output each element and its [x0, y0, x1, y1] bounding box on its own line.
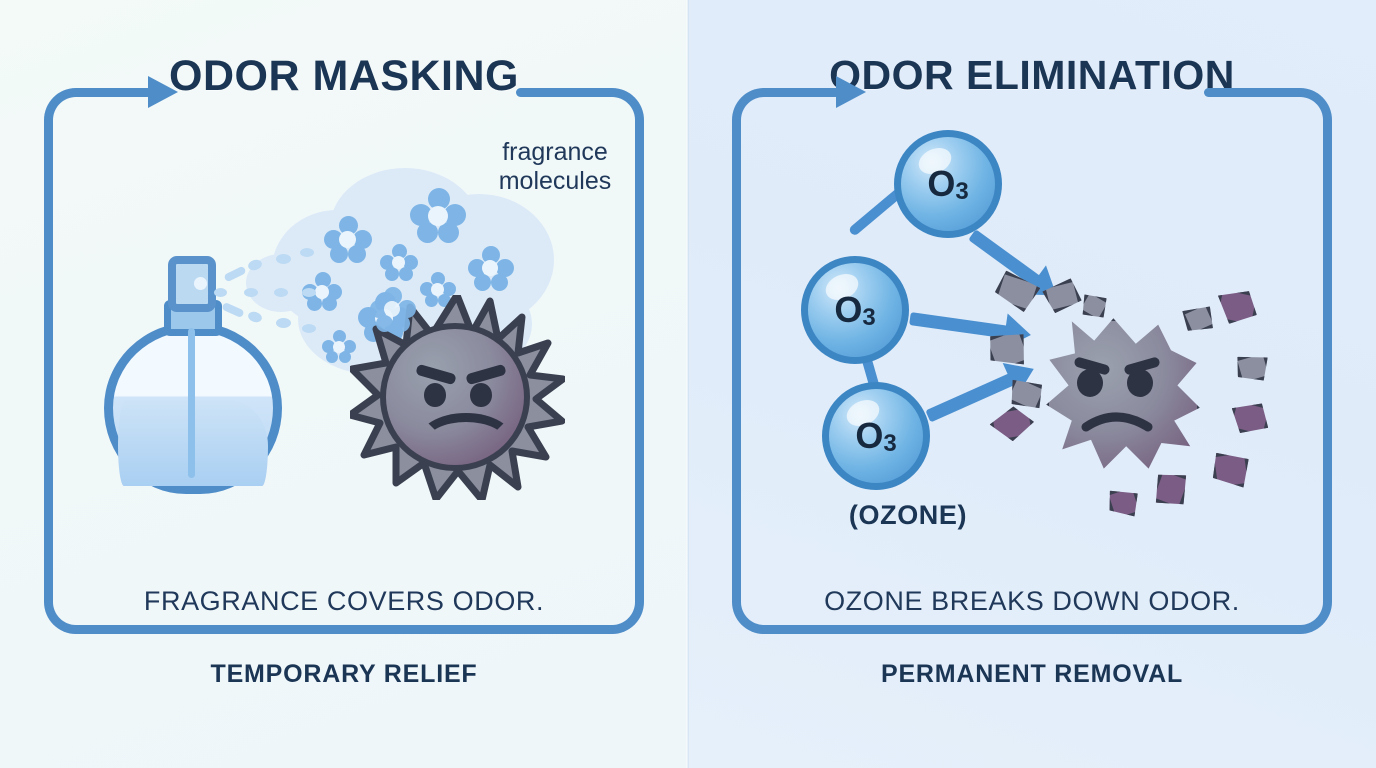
debris-shard	[1213, 285, 1262, 329]
flower-icon	[324, 216, 372, 264]
spray-particle	[300, 248, 314, 257]
ozone-molecule-icon: O3	[822, 382, 930, 490]
frame-edge-top-left-stub	[100, 88, 152, 97]
outside-caption-right: PERMANENT REMOVAL	[732, 660, 1332, 689]
spray-particle	[274, 288, 288, 297]
spray-particle	[247, 258, 263, 272]
spray-particle	[276, 318, 291, 328]
flower-icon	[370, 287, 416, 333]
spray-particle	[302, 288, 316, 297]
debris-shard	[983, 325, 1034, 374]
ozone-caption: (OZONE)	[808, 500, 1008, 531]
bottle-dip-tube	[188, 328, 195, 478]
artwork-odor-elimination: O3 O3 O3 (OZONE)	[688, 110, 1376, 580]
spray-particle	[244, 288, 258, 297]
molecule-label: O3	[829, 389, 923, 483]
flower-icon	[410, 188, 466, 244]
bottle-cap-detail	[194, 277, 207, 290]
spray-particle	[221, 302, 244, 318]
molecule-label: O3	[808, 263, 902, 357]
frame-edge-bottom	[72, 625, 616, 634]
panel-odor-masking: ODOR MASKING	[0, 0, 688, 768]
fragrance-molecules-annotation: fragrance molecules	[470, 138, 640, 196]
flower-icon	[380, 244, 418, 282]
germ-eyebrow-left	[415, 364, 456, 386]
spray-particle	[276, 254, 291, 264]
card-caption-left: FRAGRANCE COVERS ODOR.	[44, 586, 644, 617]
germ-face	[380, 323, 530, 471]
frame-edge-bottom	[760, 625, 1304, 634]
molecule-label: O3	[901, 137, 995, 231]
card-caption-right: OZONE BREAKS DOWN ODOR.	[732, 586, 1332, 617]
panel-odor-elimination: ODOR ELIMINATION O3	[688, 0, 1376, 768]
outside-caption-left: TEMPORARY RELIEF	[44, 660, 644, 689]
ozone-molecule-icon: O3	[801, 256, 909, 364]
frame-edge-top-right-stub	[1204, 88, 1276, 97]
title-arrow-icon	[148, 76, 178, 108]
germ-eye-left	[424, 383, 446, 407]
debris-shard	[1233, 349, 1274, 387]
debris-shard	[1226, 397, 1273, 440]
angry-odor-germ-icon	[350, 295, 565, 500]
annotation-line-2: molecules	[470, 167, 640, 196]
germ-frown-mouth	[418, 413, 514, 469]
germ-eye-right	[470, 383, 492, 407]
germ-face-overlay	[1028, 303, 1218, 493]
spray-particle	[247, 310, 263, 324]
perfume-bottle-icon	[96, 250, 311, 500]
title-arrow-icon	[836, 76, 866, 108]
bottle-spray-cap	[168, 256, 216, 312]
ozone-molecule-icon: O3	[894, 130, 1002, 238]
spray-particle	[223, 266, 246, 283]
spray-particle	[214, 288, 227, 297]
annotation-line-1: fragrance	[470, 138, 640, 167]
frame-edge-top-right-stub	[516, 88, 588, 97]
spray-particle	[302, 324, 316, 333]
artwork-odor-masking: fragrance molecules	[0, 110, 688, 580]
shattered-odor-germ-icon	[988, 275, 1278, 525]
infographic-canvas: ODOR MASKING	[0, 0, 1376, 768]
flower-icon	[468, 246, 514, 292]
frame-edge-top-left-stub	[788, 88, 840, 97]
germ-eyebrow-right	[465, 364, 506, 386]
